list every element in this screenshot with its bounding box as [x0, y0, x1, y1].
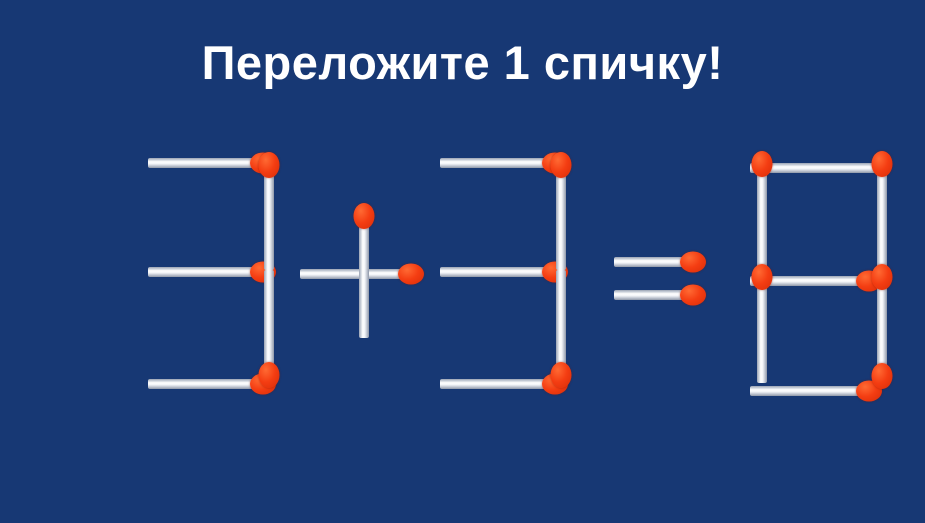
- matchstick-head-icon: [752, 264, 773, 290]
- matchstick-d8-lower-left[interactable]: [751, 270, 773, 383]
- matchstick-d3a-top[interactable]: [148, 152, 270, 174]
- matchstick-eq-top[interactable]: [614, 251, 700, 273]
- page-title: Переложите 1 спичку!: [0, 35, 925, 91]
- matchstick-head-icon: [680, 285, 706, 306]
- matchstick-d3b-upper-right[interactable]: [550, 158, 572, 270]
- matchstick-head-icon: [872, 264, 893, 290]
- matchstick-d3b-mid[interactable]: [440, 261, 562, 283]
- matchstick-head-icon: [259, 362, 280, 388]
- matchstick-d3a-bot[interactable]: [148, 373, 270, 395]
- matchstick-head-icon: [259, 152, 280, 178]
- matchstick-d3a-mid[interactable]: [148, 261, 270, 283]
- matchstick-d3b-top[interactable]: [440, 152, 562, 174]
- matchstick-puzzle-canvas: Переложите 1 спичку!: [0, 0, 925, 523]
- matchstick-head-icon: [680, 252, 706, 273]
- matchstick-plus-vertical[interactable]: [353, 209, 375, 338]
- matchstick-d3b-bot[interactable]: [440, 373, 562, 395]
- matchstick-head-icon: [872, 363, 893, 389]
- matchstick-d3a-lower-right[interactable]: [258, 270, 280, 382]
- matchstick-d8-bot[interactable]: [750, 380, 876, 402]
- matchstick-d8-upper-right[interactable]: [871, 157, 893, 270]
- matchstick-d8-lower-right[interactable]: [871, 270, 893, 383]
- matchstick-eq-bottom[interactable]: [614, 284, 700, 306]
- matchstick-d3a-upper-right[interactable]: [258, 158, 280, 270]
- matchstick-head-icon: [752, 151, 773, 177]
- matchstick-head-icon: [354, 203, 375, 229]
- matchstick-head-icon: [551, 362, 572, 388]
- matchstick-d3b-lower-right[interactable]: [550, 270, 572, 382]
- matchstick-head-icon: [872, 151, 893, 177]
- matchstick-head-icon: [551, 152, 572, 178]
- matchstick-d8-upper-left[interactable]: [751, 157, 773, 270]
- matchstick-head-icon: [398, 264, 424, 285]
